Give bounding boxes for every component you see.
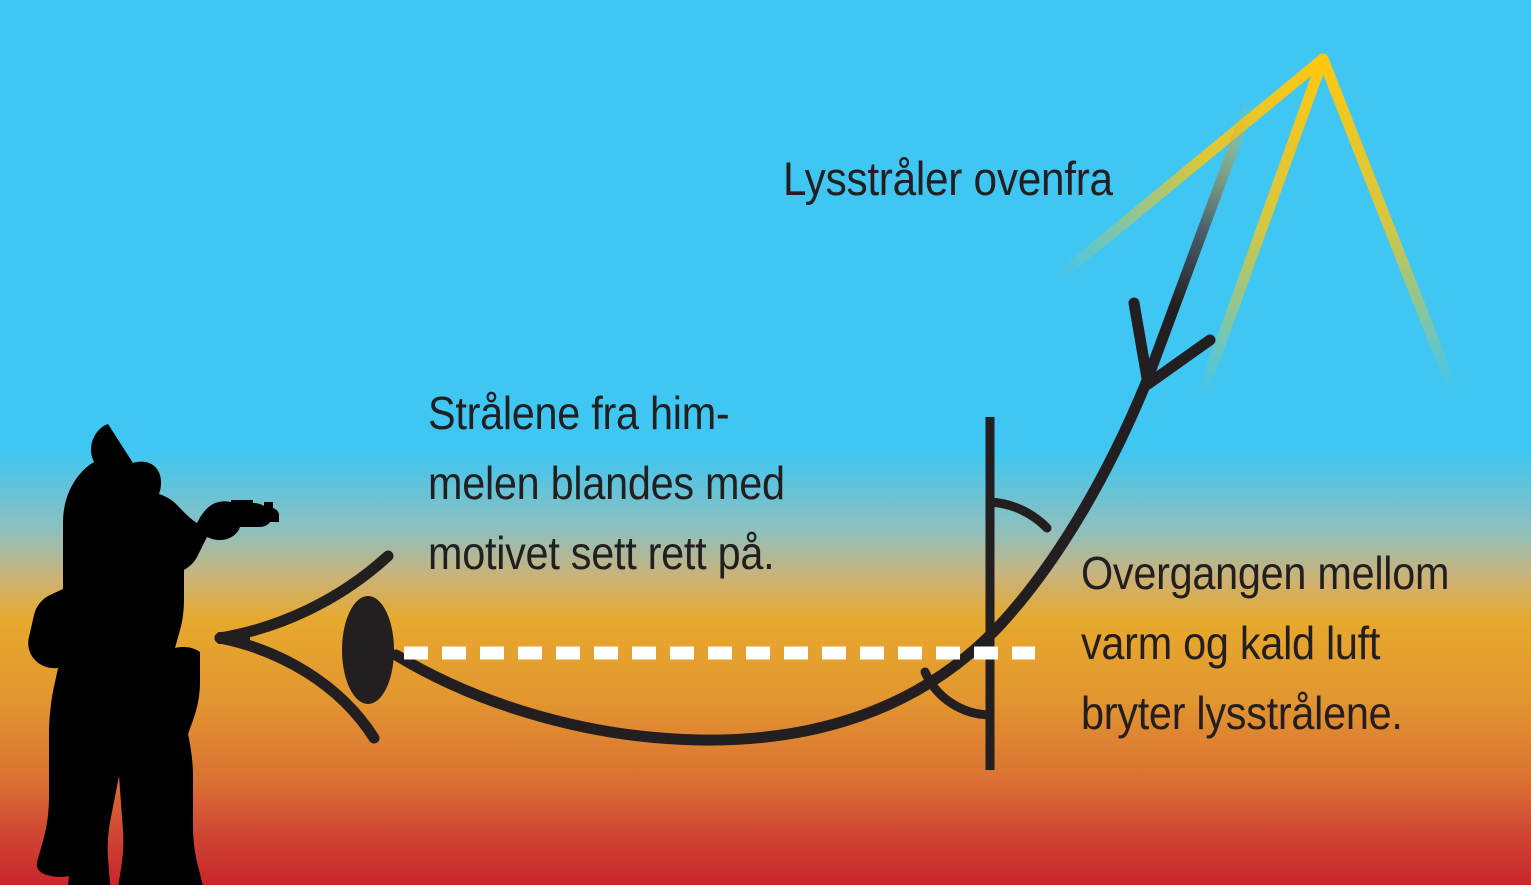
caption-lysstraler-ovenfra: Lysstråler ovenfra [783,143,1113,214]
eye-lens-group [218,556,394,738]
mirage-refraction-diagram: Lysstråler ovenfra Strålene fra him- mel… [0,0,1531,885]
sun-ray-right-icon [1323,59,1455,395]
incoming-ray-fade-segment [1146,95,1253,383]
angle-arc-incidence [990,502,1047,528]
arrowhead-barb-left-icon [1134,303,1148,384]
caption-overgangen-mellom: Overgangen mellom varm og kald luft bryt… [1081,539,1449,749]
photographer-silhouette [28,424,279,885]
caption-stralene-fra-himmelen: Strålene fra him- melen blandes med moti… [428,379,785,589]
eye-lens-ellipse [342,596,394,704]
